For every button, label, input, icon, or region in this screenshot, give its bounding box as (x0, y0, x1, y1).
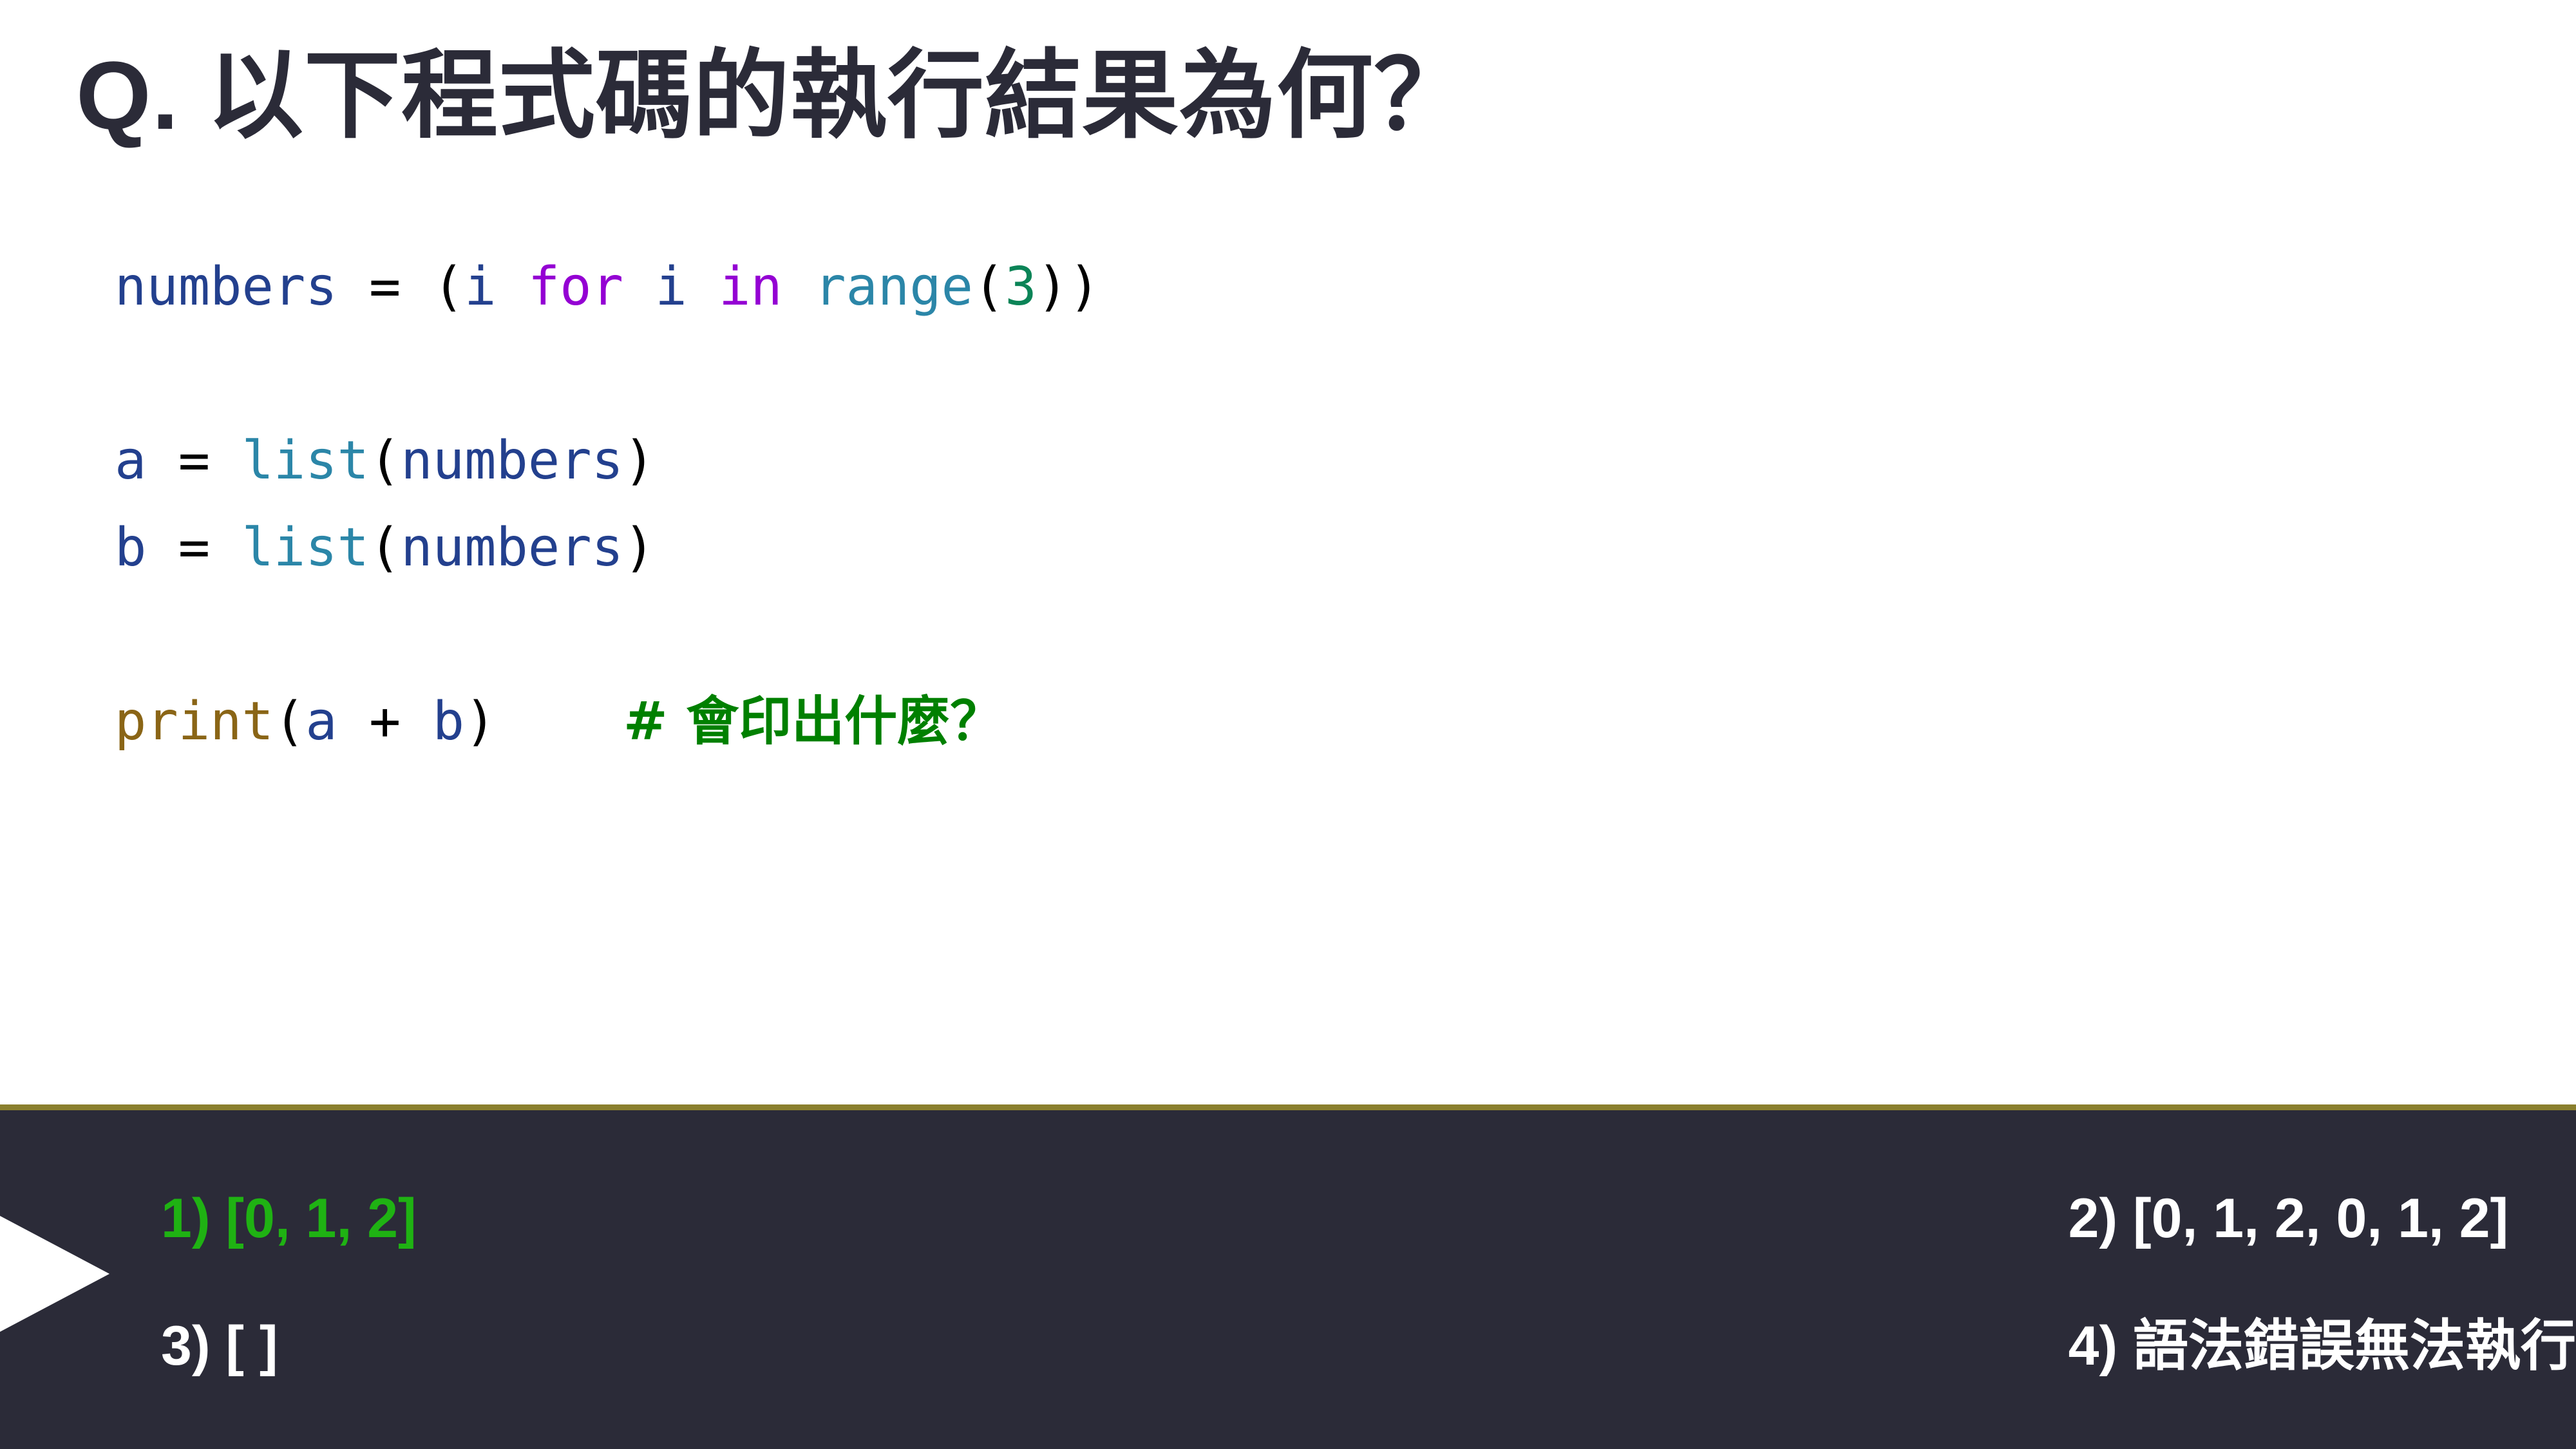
code-token-variable: numbers (401, 517, 623, 578)
code-token-operator: = (178, 517, 210, 578)
code-token-plain (210, 517, 241, 578)
answer-options-grid: 1) [0, 1, 2]2) [0, 1, 2, 0, 1, 2]3) [ ]4… (0, 1110, 2576, 1449)
python-code-block: numbers = (i for i in range(3)) a = list… (115, 243, 1101, 765)
code-token-builtin: list (242, 430, 369, 491)
code-token-plain (401, 691, 432, 752)
code-token-plain (337, 691, 369, 752)
code-token-comment: # 會印出什麼？ (623, 691, 1003, 752)
code-line (115, 330, 1101, 417)
code-token-variable: i (464, 256, 496, 317)
code-token-punctuation: ( (973, 256, 1005, 317)
answer-option-1[interactable]: 1) [0, 1, 2] (0, 1188, 723, 1249)
code-token-punctuation: ) (623, 430, 655, 491)
code-token-punctuation: ) (464, 691, 496, 752)
code-token-plain (782, 256, 814, 317)
code-token-operator: + (369, 691, 401, 752)
code-token-variable: i (655, 256, 687, 317)
code-token-keyword: for (528, 256, 623, 317)
code-line: a = list(numbers) (115, 417, 1101, 504)
code-token-punctuation: ( (369, 517, 401, 578)
code-token-variable: numbers (115, 256, 337, 317)
code-token-plain (401, 256, 432, 317)
slide-canvas: Q. 以下程式碼的執行結果為何？ numbers = (i for i in r… (0, 0, 2576, 1449)
answer-option-3[interactable]: 3) [ ] (0, 1316, 723, 1377)
code-line: print(a + b) # 會印出什麼？ (115, 678, 1101, 765)
answer-option-2[interactable]: 2) [0, 1, 2, 0, 1, 2] (723, 1188, 2576, 1249)
code-line: numbers = (i for i in range(3)) (115, 243, 1101, 330)
code-token-variable: a (305, 691, 337, 752)
code-token-plain (210, 430, 241, 491)
code-token-variable: b (115, 517, 146, 578)
code-token-plain (146, 517, 178, 578)
code-token-operator: = (369, 256, 401, 317)
code-token-punctuation: ( (433, 256, 464, 317)
code-token-builtin: range (814, 256, 973, 317)
code-token-plain (496, 691, 623, 752)
code-token-function: print (115, 691, 274, 752)
code-token-plain (687, 256, 719, 317)
answer-option-4[interactable]: 4) 語法錯誤無法執行 (723, 1316, 2576, 1377)
code-token-plain (146, 430, 178, 491)
code-token-punctuation: ) (623, 517, 655, 578)
page-title: Q. 以下程式碼的執行結果為何？ (76, 40, 1471, 151)
code-token-punctuation: )) (1037, 256, 1101, 317)
code-line (115, 591, 1101, 678)
code-token-variable: numbers (401, 430, 623, 491)
code-token-plain (337, 256, 369, 317)
code-token-punctuation: ( (369, 430, 401, 491)
code-token-plain (623, 256, 655, 317)
code-token-keyword: in (719, 256, 782, 317)
code-token-operator: = (178, 430, 210, 491)
code-token-punctuation: ( (274, 691, 305, 752)
code-token-number: 3 (1005, 256, 1036, 317)
code-token-builtin: list (242, 517, 369, 578)
code-line: b = list(numbers) (115, 504, 1101, 591)
code-token-variable: a (115, 430, 146, 491)
code-token-plain (496, 256, 527, 317)
code-token-variable: b (433, 691, 464, 752)
